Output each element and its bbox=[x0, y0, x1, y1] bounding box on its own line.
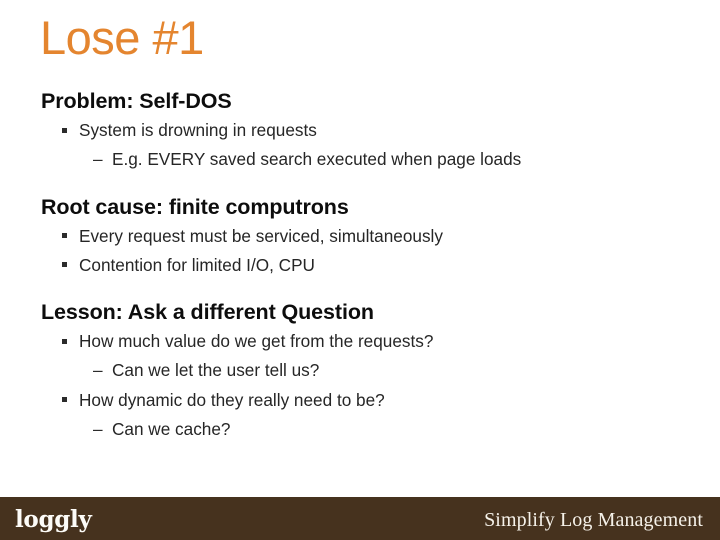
bullet-list-level1: How much value do we get from the reques… bbox=[0, 328, 720, 442]
bullet-list-level2: – E.g. EVERY saved search executed when … bbox=[0, 146, 720, 172]
list-item-label: How dynamic do they really need to be? bbox=[79, 390, 385, 410]
square-bullet-icon bbox=[62, 128, 67, 133]
dash-bullet-icon: – bbox=[93, 416, 103, 442]
slide-footer: loggly Simplify Log Management bbox=[0, 497, 720, 540]
bullet-list-level1: System is drowning in requests – E.g. EV… bbox=[0, 117, 720, 172]
square-bullet-icon bbox=[62, 262, 67, 267]
square-bullet-icon bbox=[62, 397, 67, 402]
list-item-label: Every request must be serviced, simultan… bbox=[79, 226, 443, 246]
content-section: Lesson: Ask a different Question How muc… bbox=[0, 299, 720, 442]
list-item: Contention for limited I/O, CPU bbox=[0, 252, 720, 278]
content-section: Root cause: finite computrons Every requ… bbox=[0, 194, 720, 279]
list-item-label: E.g. EVERY saved search executed when pa… bbox=[112, 149, 521, 169]
list-item-label: Can we cache? bbox=[112, 419, 230, 439]
list-item: How much value do we get from the reques… bbox=[0, 328, 720, 354]
page-title: Lose #1 bbox=[40, 12, 204, 65]
bullet-list-level1: Every request must be serviced, simultan… bbox=[0, 223, 720, 278]
square-bullet-icon bbox=[62, 233, 67, 238]
section-heading: Problem: Self-DOS bbox=[0, 88, 720, 114]
slide: Lose #1 Problem: Self-DOS System is drow… bbox=[0, 0, 720, 540]
list-item: – Can we cache? bbox=[0, 416, 720, 442]
slide-body: Problem: Self-DOS System is drowning in … bbox=[0, 88, 720, 442]
footer-tagline: Simplify Log Management bbox=[484, 510, 703, 530]
square-bullet-icon bbox=[62, 339, 67, 344]
loggly-logo: loggly bbox=[15, 508, 92, 531]
list-item: – Can we let the user tell us? bbox=[0, 357, 720, 383]
list-item: How dynamic do they really need to be? bbox=[0, 387, 720, 413]
list-item-label: Contention for limited I/O, CPU bbox=[79, 255, 315, 275]
list-item: Every request must be serviced, simultan… bbox=[0, 223, 720, 249]
list-item: – E.g. EVERY saved search executed when … bbox=[0, 146, 720, 172]
section-heading: Root cause: finite computrons bbox=[0, 194, 720, 220]
dash-bullet-icon: – bbox=[93, 146, 103, 172]
list-item-label: Can we let the user tell us? bbox=[112, 360, 319, 380]
section-heading: Lesson: Ask a different Question bbox=[0, 299, 720, 325]
content-section: Problem: Self-DOS System is drowning in … bbox=[0, 88, 720, 173]
list-item: System is drowning in requests bbox=[0, 117, 720, 143]
dash-bullet-icon: – bbox=[93, 357, 103, 383]
bullet-list-level2: – Can we let the user tell us? bbox=[0, 357, 720, 383]
bullet-list-level2: – Can we cache? bbox=[0, 416, 720, 442]
list-item-label: System is drowning in requests bbox=[79, 120, 317, 140]
list-item-label: How much value do we get from the reques… bbox=[79, 331, 433, 351]
